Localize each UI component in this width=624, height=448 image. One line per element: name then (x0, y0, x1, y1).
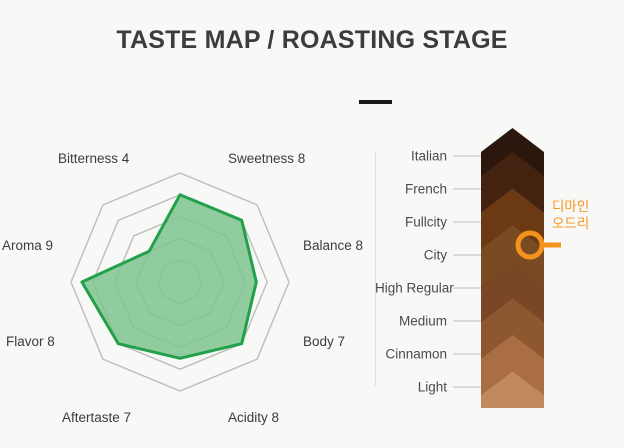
radar-label-flavor: Flavor 8 (6, 334, 55, 349)
roast-label-city[interactable]: City (375, 248, 447, 263)
roast-label-cinnamon[interactable]: Cinnamon (375, 347, 447, 362)
title-underline-rule (359, 100, 392, 104)
radar-series-polygon (82, 195, 256, 358)
roast-label-connectors (453, 156, 481, 387)
page-title: TASTE MAP / ROASTING STAGE (0, 26, 624, 55)
radar-chart (0, 120, 375, 448)
roast-label-high-regular[interactable]: High Regular (375, 281, 447, 296)
radar-label-aftertaste: Aftertaste 7 (62, 410, 131, 425)
roast-label-fullcity[interactable]: Fullcity (375, 215, 447, 230)
marker-text-line-2: 오드리 (552, 215, 589, 232)
radar-label-sweetness: Sweetness 8 (228, 151, 305, 166)
radar-label-balance: Balance 8 (303, 238, 363, 253)
roasting-stage-panel: ItalianFrenchFullcityCityHigh RegularMed… (375, 120, 624, 448)
marker-text-line-1: 디마인 (552, 198, 589, 215)
roast-label-medium[interactable]: Medium (375, 314, 447, 329)
radar-label-aroma: Aroma 9 (2, 238, 53, 253)
radar-label-body: Body 7 (303, 334, 345, 349)
roast-color-bands (481, 128, 544, 408)
taste-map-radar-panel: Sweetness 8Balance 8Body 7Acidity 8After… (0, 120, 375, 448)
radar-label-bitterness: Bitterness 4 (58, 151, 129, 166)
roast-label-light[interactable]: Light (375, 380, 447, 395)
roast-label-french[interactable]: French (375, 182, 447, 197)
radar-label-acidity: Acidity 8 (228, 410, 279, 425)
roast-label-italian[interactable]: Italian (375, 149, 447, 164)
marker-annotation-text: 디마인 오드리 (552, 198, 589, 232)
taste-map-infographic: TASTE MAP / ROASTING STAGE Sweetness 8Ba… (0, 0, 624, 448)
